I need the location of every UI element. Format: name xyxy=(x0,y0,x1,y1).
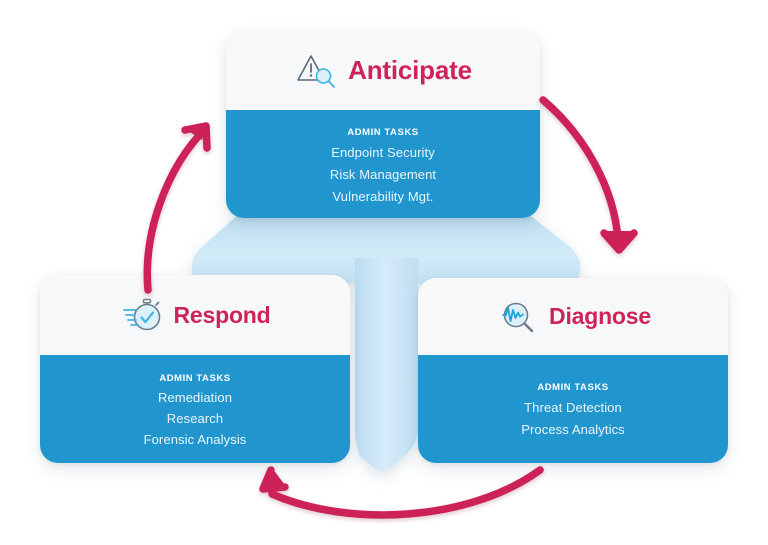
arrow-anticipate-to-diagnose xyxy=(543,100,634,252)
arrow-diagnose-to-respond xyxy=(261,468,540,515)
arrow-respond-to-anticipate xyxy=(147,124,207,290)
arrows-layer xyxy=(0,0,768,545)
diagram-canvas: Anticipate ADMIN TASKS Endpoint Security… xyxy=(0,0,768,545)
